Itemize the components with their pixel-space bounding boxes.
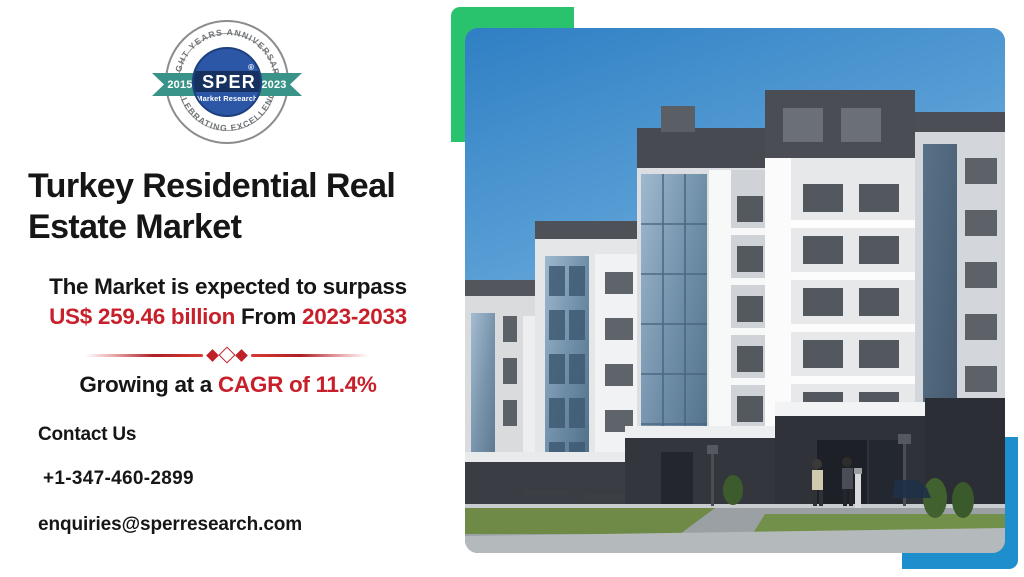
sper-anniversary-badge-logo: EIGHT YEARS ANNIVERSARY CELEBRATING EXCE…	[152, 18, 302, 146]
residential-building-photo	[465, 28, 1005, 553]
divider-diamond-left-icon	[206, 349, 219, 362]
divider-diamond-right-icon	[235, 349, 248, 362]
sper-logo-mark: SPER Market Research ®	[192, 47, 262, 117]
left-background-block	[465, 280, 543, 470]
sper-tagline: Market Research	[194, 94, 260, 103]
divider-bar-right	[251, 354, 369, 357]
badge-end-year-label: 2023	[261, 79, 286, 91]
ornamental-divider	[62, 344, 392, 366]
market-value-amount: US$ 259.46 billion	[49, 304, 235, 329]
statement-connector: From	[241, 304, 296, 329]
page-title: Turkey Residential Real Estate Market	[28, 166, 438, 249]
divider-bar-left	[85, 354, 203, 357]
contact-block: Contact Us +1-347-460-2899 enquiries@spe…	[38, 424, 418, 536]
building-illustration	[465, 28, 1005, 553]
contact-email[interactable]: enquiries@sperresearch.com	[38, 514, 418, 536]
contact-phone[interactable]: +1-347-460-2899	[43, 468, 418, 490]
divider-diamond-center-icon	[219, 347, 236, 364]
cagr-statement: Growing at a CAGR of 11.4%	[28, 372, 428, 398]
contact-heading: Contact Us	[38, 424, 418, 446]
sper-wordmark-band: SPER	[192, 71, 262, 92]
cagr-value: CAGR of 11.4%	[218, 372, 377, 397]
landscaping	[465, 504, 1005, 553]
sper-wordmark: SPER	[202, 73, 256, 91]
cagr-prefix: Growing at a	[79, 372, 212, 397]
statement-lead-text: The Market is expected to surpass	[49, 274, 407, 299]
content-column: EIGHT YEARS ANNIVERSARY CELEBRATING EXCE…	[0, 0, 448, 577]
forecast-period: 2023-2033	[302, 304, 407, 329]
registered-trademark-icon: ®	[248, 63, 254, 72]
divider-ornament	[208, 349, 246, 361]
badge-start-year-label: 2015	[167, 79, 192, 91]
marketing-infographic: EIGHT YEARS ANNIVERSARY CELEBRATING EXCE…	[0, 0, 1024, 577]
market-value-statement: The Market is expected to surpass US$ 25…	[28, 272, 428, 332]
